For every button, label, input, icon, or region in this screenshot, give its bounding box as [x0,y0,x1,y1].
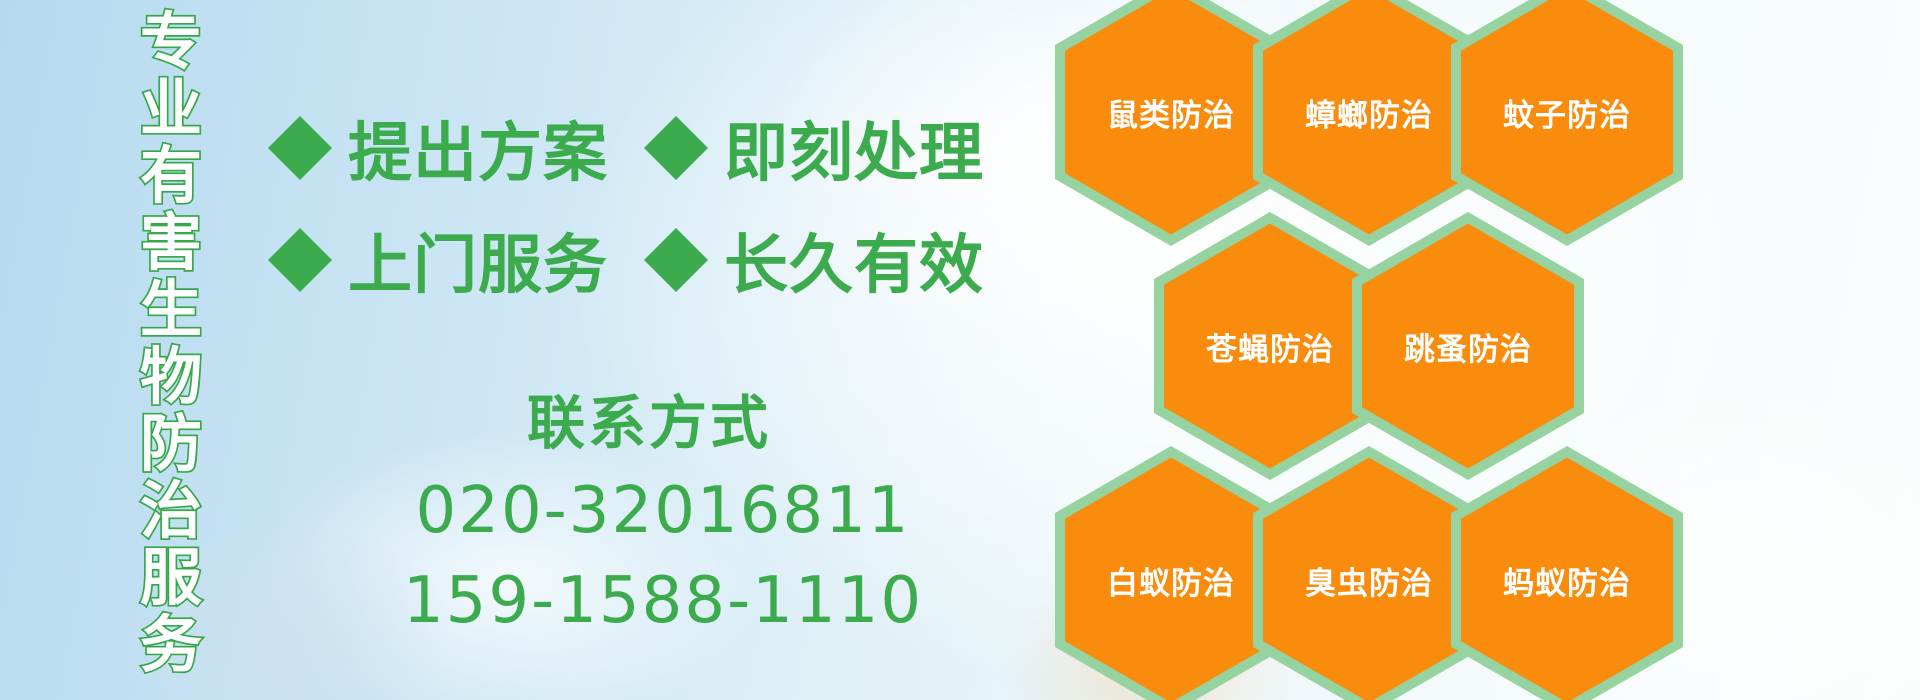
feature-item-longlasting: 长久有效 [644,214,984,306]
vertical-title-char: 生 [118,276,224,343]
service-hexagon-bedbug[interactable]: 臭虫防治 [1253,446,1485,700]
service-label: 白蚁防治 [1107,558,1235,603]
contact-phone-mobile[interactable]: 159-1588-1110 [268,556,1058,646]
feature-label: 即刻处理 [724,102,984,194]
diamond-bullet-icon [268,84,332,148]
vertical-title-char: 防 [118,410,224,477]
service-hexagon-fly[interactable]: 苍蝇防治 [1154,212,1386,480]
hexagon-inner: 蚊子防治 [1461,0,1673,235]
vertical-title-char: 治 [118,477,224,544]
service-label: 蚂蚁防治 [1503,558,1631,603]
hexagon-inner: 白蚁防治 [1065,458,1277,700]
service-hexagon-termite[interactable]: 白蚁防治 [1055,446,1287,700]
contact-heading: 联系方式 [240,380,1058,466]
vertical-title-char: 有 [118,142,224,209]
service-label: 苍蝇防治 [1206,324,1334,369]
vertical-title: 专 业 有 害 生 物 防 治 服 务 [118,8,224,688]
vertical-title-char: 务 [118,611,224,678]
feature-item-immediate: 即刻处理 [644,102,984,194]
service-label: 蚊子防治 [1503,90,1631,135]
feature-item-onsite: 上门服务 [268,214,608,306]
feature-label: 上门服务 [348,214,608,306]
contact-phone-landline[interactable]: 020-32016811 [268,466,1058,556]
vertical-title-char: 业 [118,75,224,142]
hexagon-inner: 蚂蚁防治 [1461,458,1673,700]
service-label: 蟑螂防治 [1305,90,1433,135]
diamond-bullet-icon [268,196,332,260]
service-hexagon-mosquito[interactable]: 蚊子防治 [1451,0,1683,246]
service-hexagon-ant[interactable]: 蚂蚁防治 [1451,446,1683,700]
feature-list: 提出方案 即刻处理 上门服务 长久有效 [268,92,1058,316]
feature-label: 长久有效 [724,214,984,306]
hexagon-inner: 蟑螂防治 [1263,0,1475,235]
service-hexagon-rodent[interactable]: 鼠类防治 [1055,0,1287,246]
vertical-title-char: 害 [118,209,224,276]
service-hexagon-grid: 鼠类防治 蟑螂防治 蚊子防治 苍蝇防治 跳蚤防治 白蚁防治 [1055,0,1855,700]
pest-control-service-banner: 专 业 有 害 生 物 防 治 服 务 提出方案 即刻处理 上门服务 [0,0,1920,700]
vertical-title-char: 专 [118,8,224,75]
feature-label: 提出方案 [348,102,608,194]
feature-row: 上门服务 长久有效 [268,204,1058,316]
feature-item-proposal: 提出方案 [268,102,608,194]
vertical-title-char: 服 [118,544,224,611]
hexagon-inner: 鼠类防治 [1065,0,1277,235]
service-label: 跳蚤防治 [1404,324,1532,369]
vertical-title-char: 物 [118,343,224,410]
service-hexagon-cockroach[interactable]: 蟑螂防治 [1253,0,1485,246]
feature-row: 提出方案 即刻处理 [268,92,1058,204]
hexagon-inner: 臭虫防治 [1263,458,1475,700]
service-label: 鼠类防治 [1107,90,1235,135]
service-hexagon-flea[interactable]: 跳蚤防治 [1352,212,1584,480]
diamond-bullet-icon [644,84,708,148]
hexagon-inner: 跳蚤防治 [1362,224,1574,469]
hexagon-inner: 苍蝇防治 [1164,224,1376,469]
service-label: 臭虫防治 [1305,558,1433,603]
contact-block: 联系方式 020-32016811 159-1588-1110 [268,380,1058,646]
diamond-bullet-icon [644,196,708,260]
